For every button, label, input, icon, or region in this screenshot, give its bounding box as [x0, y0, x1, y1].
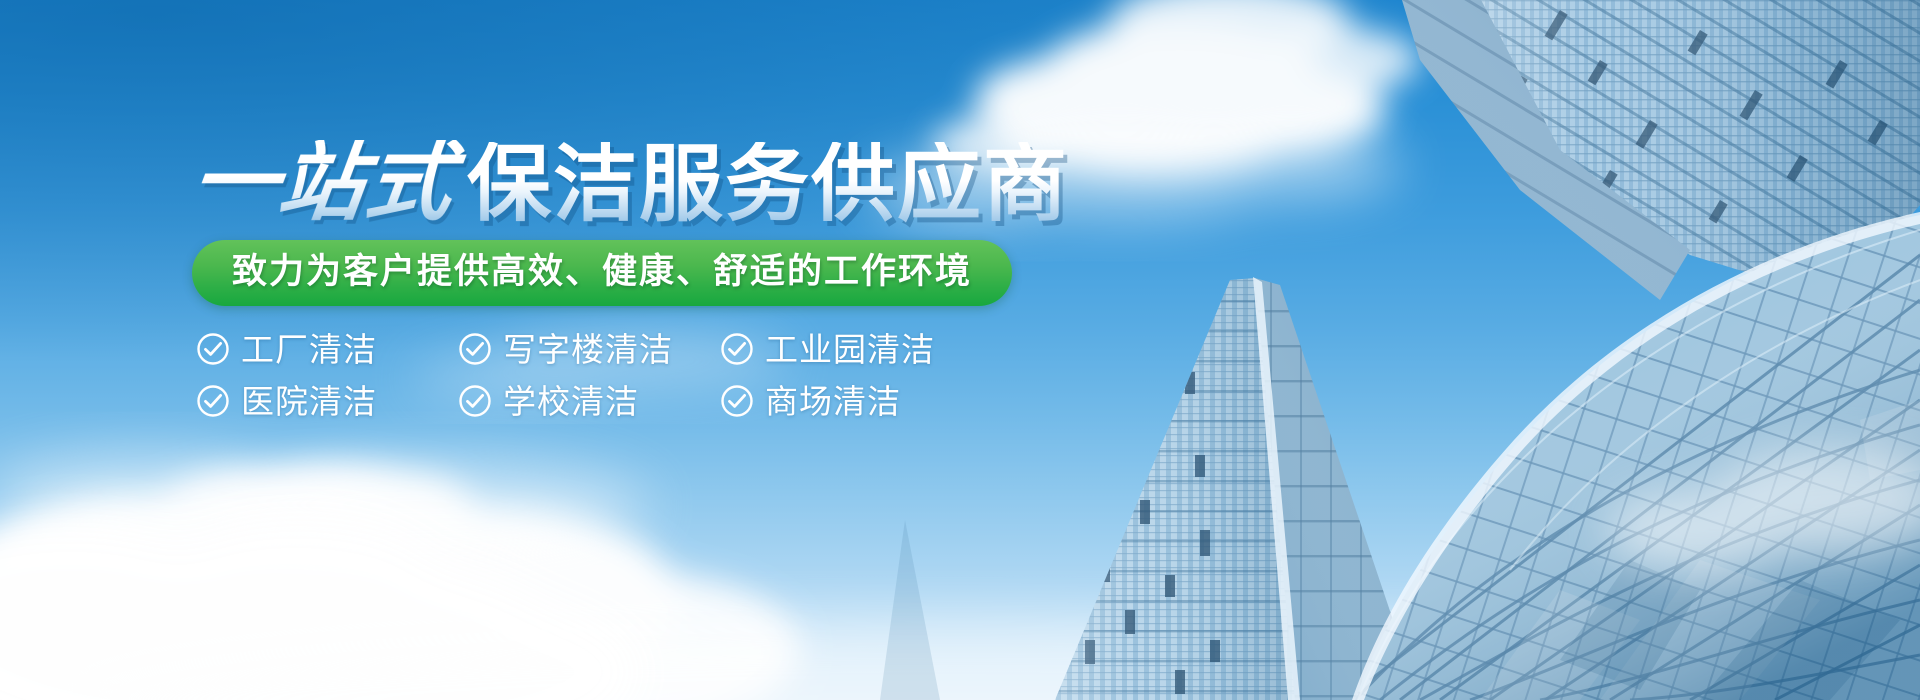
service-row-1: 工厂清洁 写字楼清洁 工业园清洁 — [196, 332, 956, 366]
headline-bold-part: 保洁服务供应商 — [467, 142, 1069, 226]
hero-banner: 一站式保洁服务供应商 致力为客户提供高效、健康、舒适的工作环境 工厂清洁 — [0, 0, 1920, 700]
check-circle-icon — [458, 332, 492, 366]
check-circle-icon — [720, 384, 754, 418]
service-label: 医院清洁 — [241, 385, 377, 418]
service-item-mall[interactable]: 商场清洁 — [720, 384, 982, 418]
tagline-text: 致力为客户提供高效、健康、舒适的工作环境 — [232, 252, 972, 291]
service-label: 商场清洁 — [765, 385, 901, 418]
service-item-hospital[interactable]: 医院清洁 — [196, 384, 458, 418]
service-item-school[interactable]: 学校清洁 — [458, 384, 720, 418]
service-item-factory[interactable]: 工厂清洁 — [196, 332, 458, 366]
service-label: 学校清洁 — [503, 385, 639, 418]
service-label: 工业园清洁 — [765, 333, 935, 366]
service-label: 写字楼清洁 — [503, 333, 673, 366]
service-item-office-building[interactable]: 写字楼清洁 — [458, 332, 720, 366]
check-circle-icon — [458, 384, 492, 418]
service-label: 工厂清洁 — [241, 333, 377, 366]
page-title: 一站式保洁服务供应商 — [192, 118, 968, 226]
service-item-industrial-park[interactable]: 工业园清洁 — [720, 332, 982, 366]
check-circle-icon — [196, 332, 230, 366]
banner-text-block: 一站式保洁服务供应商 致力为客户提供高效、健康、舒适的工作环境 工厂清洁 — [178, 118, 968, 436]
service-list: 工厂清洁 写字楼清洁 工业园清洁 — [196, 332, 956, 418]
tagline-pill: 致力为客户提供高效、健康、舒适的工作环境 — [192, 240, 1012, 306]
service-row-2: 医院清洁 学校清洁 商场清洁 — [196, 384, 956, 418]
headline-script-part: 一站式 — [187, 140, 473, 226]
check-circle-icon — [196, 384, 230, 418]
distant-structure — [880, 520, 940, 700]
check-circle-icon — [720, 332, 754, 366]
